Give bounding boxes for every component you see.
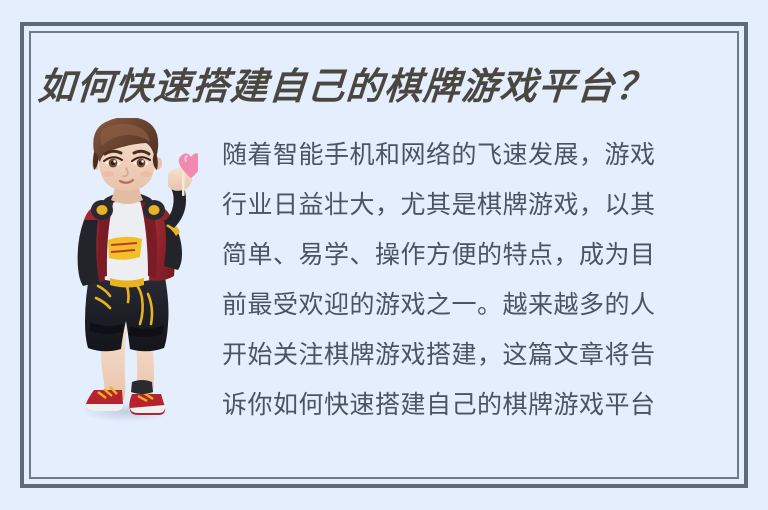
article-line: 前最受欢迎的游戏之一。越来越多的人 [222,280,724,330]
blush-right [140,171,152,177]
poster-canvas: 如何快速搭建自己的棋牌游戏平台？ 随着智能手机和网络的飞速发展，游戏 行业日益壮… [0,0,768,510]
blush-left [102,171,114,177]
article-line: 诉你如何快速搭建自己的棋牌游戏平台 [222,380,724,430]
article-line: 开始关注棋牌游戏搭建，这篇文章将告 [222,330,724,380]
shoe-left [86,387,123,411]
article-line: 行业日益壮大，尤其是棋牌游戏，以其 [222,180,724,230]
character-illustration [58,118,198,428]
article-line: 随着智能手机和网络的飞速发展，游戏 [222,130,724,180]
sleeve-left [78,220,99,286]
page-title: 如何快速搭建自己的棋牌游戏平台？ [36,58,730,114]
shoe-right [129,380,165,415]
shirt-graphic [108,237,142,260]
article-body: 随着智能手机和网络的飞速发展，游戏 行业日益壮大，尤其是棋牌游戏，以其 简单、易… [222,130,724,430]
article-line: 简单、易学、操作方便的特点，成为目 [222,230,724,280]
